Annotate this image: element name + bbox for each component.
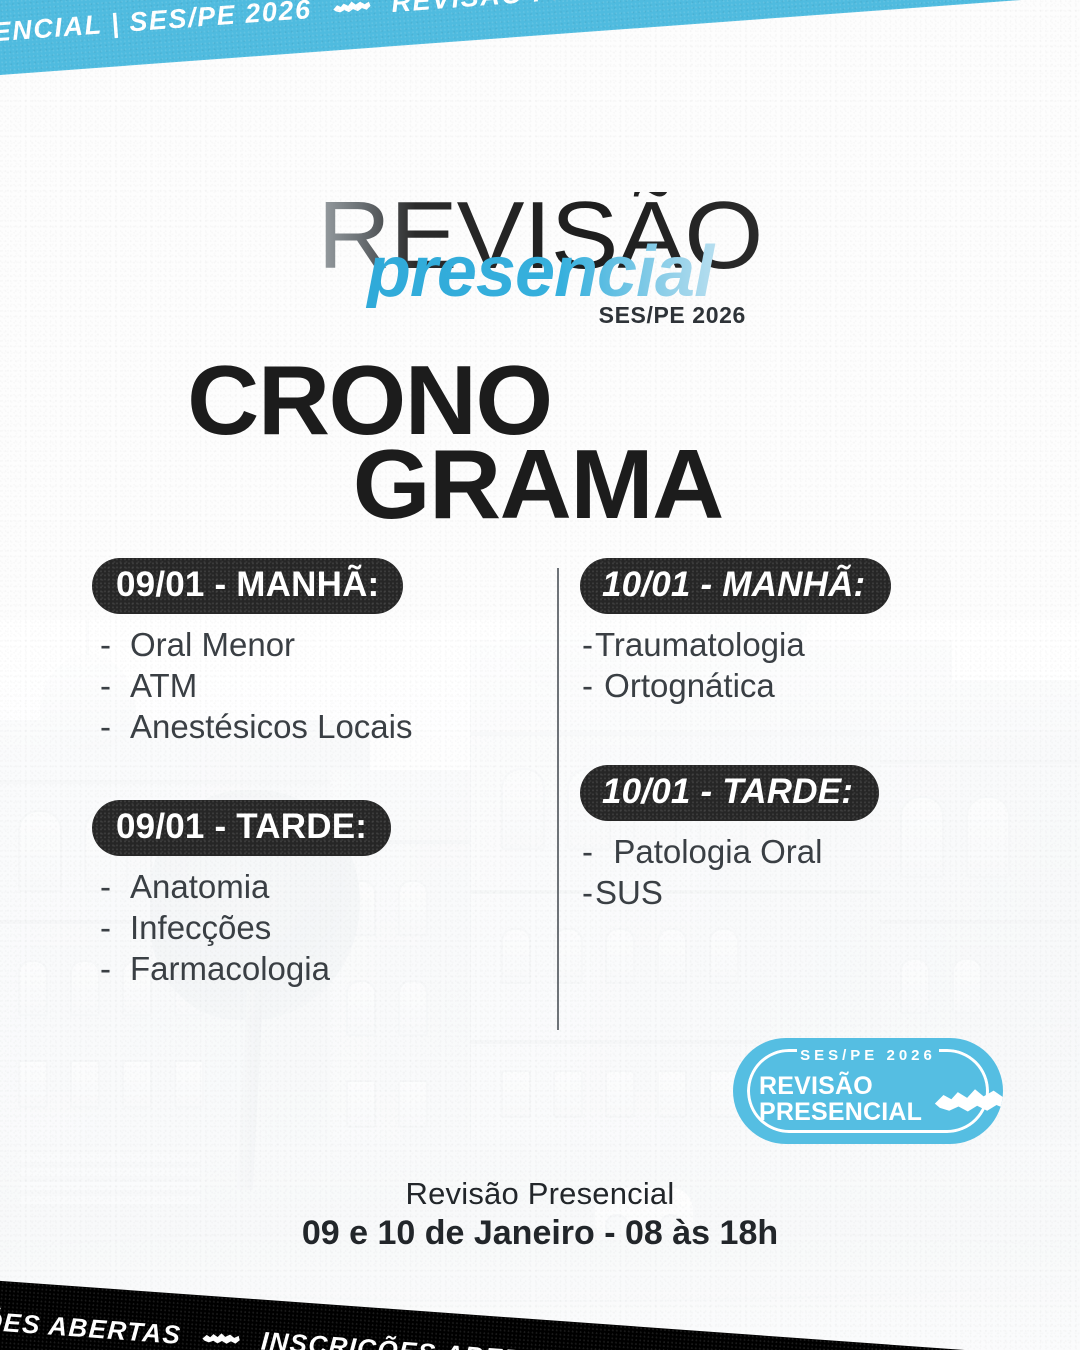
top-marquee-text-2: REVISÃO PRESENCIAL | SES/PE 2026	[390, 0, 932, 19]
column-divider	[557, 568, 559, 1030]
list-item: - Patologia Oral	[582, 832, 1000, 873]
list-item-label: Farmacologia	[130, 950, 330, 987]
list-item-label: Anestésicos Locais	[130, 708, 412, 745]
schedule-block-09-manha: 09/01 - MANHÃ: -Oral Menor -ATM -Anestés…	[92, 558, 552, 748]
schedule-items-09-tarde: -Anatomia -Infecções -Farmacologia	[100, 867, 552, 990]
schedule-column-left: 09/01 - MANHÃ: -Oral Menor -ATM -Anestés…	[92, 558, 552, 997]
list-item: - Ortognática	[582, 666, 1000, 707]
page-title-line-2: GRAMA	[353, 442, 1080, 526]
footer-date-time: 09 e 10 de Janeiro - 08 às 18h	[0, 1214, 1080, 1253]
bullet-dash: -	[100, 867, 130, 908]
list-item-label: Traumatologia	[595, 626, 805, 663]
list-item-label: Oral Menor	[130, 626, 295, 663]
seal-wordmark-line-1: REVISÃO	[759, 1074, 922, 1100]
logo-subtitle-sespe: SES/PE 2026	[330, 302, 746, 329]
list-item: -SUS	[582, 873, 1000, 914]
logo-word-presencial: presencial	[330, 236, 750, 308]
list-item: -Infecções	[100, 908, 552, 949]
seal-wordmark: REVISÃO PRESENCIAL	[759, 1074, 922, 1125]
list-item: -ATM	[100, 666, 552, 707]
schedule-block-10-tarde: 10/01 - TARDE: - Patologia Oral -SUS	[580, 765, 1000, 914]
seal-body: REVISÃO PRESENCIAL	[759, 1074, 981, 1125]
list-item: -Farmacologia	[100, 949, 552, 990]
schedule-header-09-manha: 09/01 - MANHÃ:	[92, 558, 403, 614]
top-marquee-track: PRESENCIAL | SES/PE 2026 REVISÃO PRESENC…	[0, 0, 1080, 54]
schedule-header-10-tarde: 10/01 - TARDE:	[580, 765, 879, 821]
poster-canvas: PRESENCIAL | SES/PE 2026 REVISÃO PRESENC…	[0, 0, 1080, 1350]
list-item-label: Infecções	[130, 909, 271, 946]
pernambuco-map-icon	[932, 1078, 1003, 1122]
schedule-header-10-manha: 10/01 - MANHÃ:	[580, 558, 891, 614]
schedule-header-09-tarde: 09/01 - TARDE:	[92, 800, 391, 856]
event-logo: REVISÃO presencial SES/PE 2026	[0, 192, 1080, 329]
footer-event-name: Revisão Presencial	[0, 1176, 1080, 1212]
pernambuco-map-icon	[331, 0, 372, 16]
list-item-label: ATM	[130, 667, 197, 704]
bullet-dash: -	[582, 625, 593, 666]
schedule-items-09-manha: -Oral Menor -ATM -Anestésicos Locais	[100, 625, 552, 748]
schedule-items-10-manha: -Traumatologia - Ortognática	[582, 625, 1000, 707]
bullet-dash: -	[100, 908, 130, 949]
schedule-block-10-manha: 10/01 - MANHÃ: -Traumatologia - Ortognát…	[580, 558, 1000, 707]
list-item: -Oral Menor	[100, 625, 552, 666]
seal-top-text: SES/PE 2026	[733, 1047, 1003, 1064]
list-item: -Anestésicos Locais	[100, 707, 552, 748]
bottom-marquee-text-1: CRIÇÕES ABERTAS	[0, 1300, 182, 1350]
bullet-dash: -	[100, 949, 130, 990]
seal-wordmark-line-2: PRESENCIAL	[759, 1100, 922, 1126]
column-spacer	[92, 756, 552, 800]
page-title: CRONO GRAMA	[0, 358, 1080, 527]
bottom-marquee-text-2: INSCRIÇÕES ABERTAS	[260, 1325, 578, 1350]
column-spacer	[580, 715, 1000, 765]
footer-info: Revisão Presencial 09 e 10 de Janeiro - …	[0, 1176, 1080, 1253]
schedule-column-right: 10/01 - MANHÃ: -Traumatologia - Ortognát…	[580, 558, 1000, 922]
list-item-label: Patologia Oral	[613, 833, 822, 870]
list-item-label: SUS	[595, 874, 663, 911]
bullet-dash: -	[100, 625, 130, 666]
top-marquee-banner: PRESENCIAL | SES/PE 2026 REVISÃO PRESENC…	[0, 0, 1080, 82]
bullet-dash: -	[100, 666, 130, 707]
seal-badge: SES/PE 2026 REVISÃO PRESENCIAL	[733, 1038, 1003, 1144]
list-item-label: Ortognática	[604, 667, 775, 704]
bullet-dash: -	[582, 666, 593, 707]
list-item: -Anatomia	[100, 867, 552, 908]
top-marquee-text-1: PRESENCIAL | SES/PE 2026	[0, 0, 312, 54]
bullet-dash: -	[582, 832, 593, 873]
pernambuco-map-icon	[200, 1328, 241, 1348]
bullet-dash: -	[582, 873, 593, 914]
schedule-items-10-tarde: - Patologia Oral -SUS	[582, 832, 1000, 914]
schedule-block-09-tarde: 09/01 - TARDE: -Anatomia -Infecções -Far…	[92, 800, 552, 990]
bullet-dash: -	[100, 707, 130, 748]
list-item-label: Anatomia	[130, 868, 269, 905]
list-item: -Traumatologia	[582, 625, 1000, 666]
